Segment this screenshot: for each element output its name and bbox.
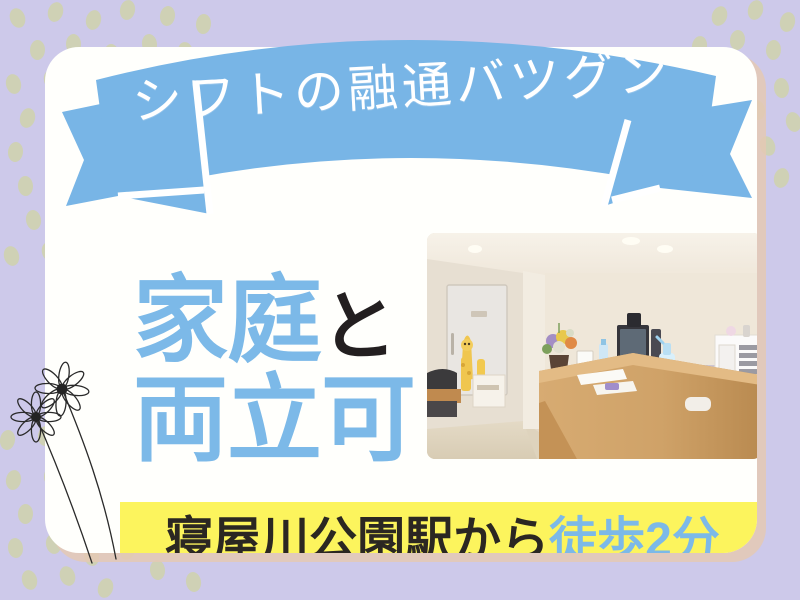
clinic-reception-photo xyxy=(427,233,757,459)
access-walk-label: 徒歩2分 xyxy=(549,500,720,554)
daisy-icon xyxy=(0,355,220,570)
background-dot xyxy=(20,568,40,591)
headline-line1-dark: と xyxy=(321,285,396,370)
background-dot xyxy=(95,576,115,600)
banner-root: 家庭と 両立可 寝屋川公園駅から徒歩2分 シフトの融通バツグン xyxy=(0,0,800,600)
daisy-decoration xyxy=(0,355,220,570)
access-station-label: 寝屋川公園駅から xyxy=(165,500,549,554)
background-dot xyxy=(185,571,203,593)
photo-illustration xyxy=(427,233,757,459)
